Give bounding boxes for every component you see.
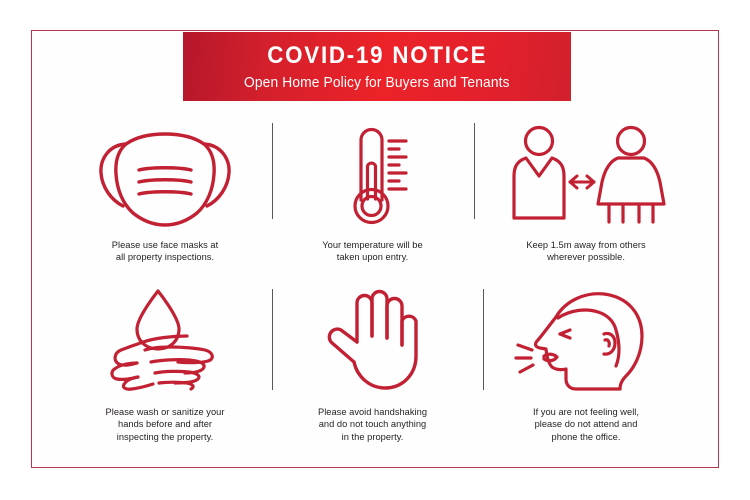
- header-banner: COVID-19 NOTICE Open Home Policy for Buy…: [183, 32, 571, 101]
- coughing-person-icon: [516, 288, 656, 392]
- tip-item-feeling-unwell: If you are not feeling well, please do n…: [477, 288, 695, 443]
- banner-title: COVID-19 NOTICE: [267, 43, 487, 68]
- tip-caption: Please use face masks at all property in…: [112, 239, 218, 264]
- banner-subtitle: Open Home Policy for Buyers and Tenants: [244, 76, 510, 92]
- tip-item-no-handshaking: Please avoid handshaking and do not touc…: [275, 288, 470, 443]
- hand-washing-icon: [101, 288, 229, 392]
- covid-notice-poster: COVID-19 NOTICE Open Home Policy for Buy…: [0, 0, 750, 500]
- tip-caption: If you are not feeling well, please do n…: [533, 406, 639, 443]
- column-divider: [272, 123, 273, 219]
- tip-item-temperature: Your temperature will be taken upon entr…: [275, 126, 470, 264]
- tip-item-hand-washing: Please wash or sanitize your hands befor…: [60, 288, 270, 443]
- social-distancing-icon: [506, 126, 666, 226]
- tip-caption: Please wash or sanitize your hands befor…: [106, 406, 225, 443]
- face-mask-icon: [89, 126, 241, 226]
- tip-caption: Keep 1.5m away from others wherever poss…: [526, 239, 645, 264]
- tip-caption: Please avoid handshaking and do not touc…: [318, 406, 427, 443]
- stop-hand-icon: [327, 288, 419, 392]
- column-divider: [272, 289, 273, 390]
- tip-caption: Your temperature will be taken upon entr…: [322, 239, 422, 264]
- tip-item-face-mask: Please use face masks at all property in…: [60, 126, 270, 264]
- thermometer-icon: [327, 126, 419, 226]
- column-divider: [474, 123, 475, 219]
- tip-item-social-distancing: Keep 1.5m away from others wherever poss…: [477, 126, 695, 264]
